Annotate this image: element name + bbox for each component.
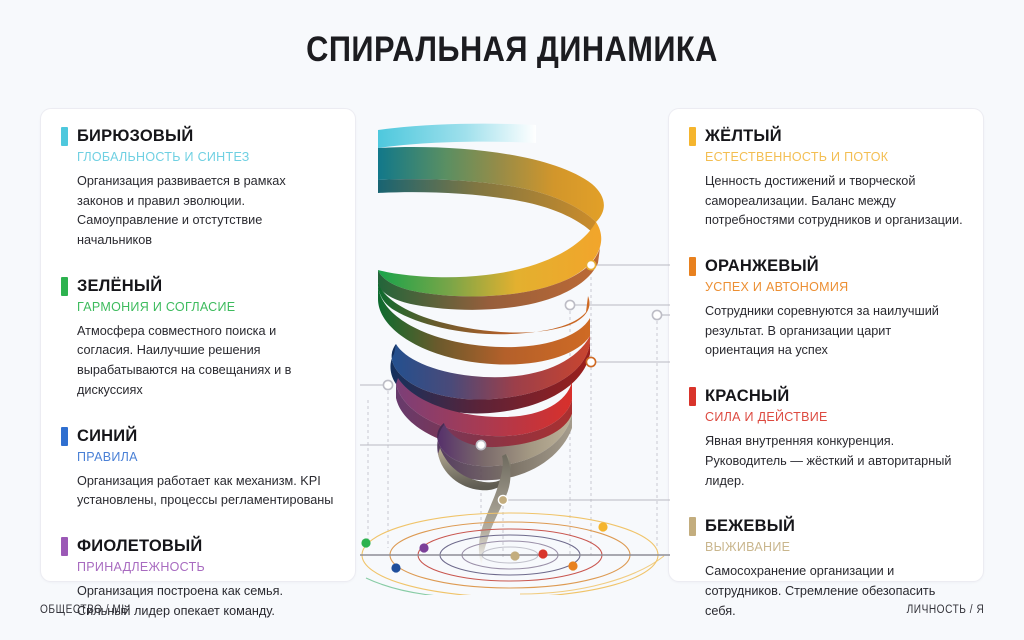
level-subtitle: ГАРМОНИЯ И СОГЛАСИЕ xyxy=(77,300,335,315)
level-header: ФИОЛЕТОВЫЙ xyxy=(61,537,335,556)
level-description: Организация развивается в рамках законов… xyxy=(77,172,335,251)
level-name: ЖЁЛТЫЙ xyxy=(705,128,782,145)
level-header: ОРАНЖЕВЫЙ xyxy=(689,257,963,276)
spiral-diagram xyxy=(360,100,670,595)
level-description: Сотрудники соревнуются за наилучший резу… xyxy=(705,302,963,361)
node-red xyxy=(565,300,574,309)
level-name: СИНИЙ xyxy=(77,428,137,445)
level-item-orange: ОРАНЖЕВЫЙ УСПЕХ И АВТОНОМИЯ Сотрудники с… xyxy=(689,257,963,361)
level-header: КРАСНЫЙ xyxy=(689,387,963,406)
level-description: Организация работает как механизм. KPI у… xyxy=(77,472,335,511)
color-swatch-icon xyxy=(61,537,68,556)
level-item-blue: СИНИЙ ПРАВИЛА Организация работает как м… xyxy=(61,427,335,511)
color-swatch-icon xyxy=(689,387,696,406)
level-description: Атмосфера совместного поиска и согласия.… xyxy=(77,322,335,401)
node-yellow xyxy=(586,260,595,269)
level-header: ЗЕЛЁНЫЙ xyxy=(61,277,335,296)
page-title: СПИРАЛЬНАЯ ДИНАМИКА xyxy=(61,30,962,70)
orbit-dot-blue xyxy=(391,563,400,572)
infographic-page: СПИРАЛЬНАЯ ДИНАМИКА БИРЮЗОВЫЙ ГЛОБАЛЬНОС… xyxy=(0,0,1024,640)
level-header: ЖЁЛТЫЙ xyxy=(689,127,963,146)
level-item-green: ЗЕЛЁНЫЙ ГАРМОНИЯ И СОГЛАСИЕ Атмосфера со… xyxy=(61,277,335,401)
node-blue xyxy=(476,440,485,449)
level-item-yellow: ЖЁЛТЫЙ ЕСТЕСТВЕННОСТЬ И ПОТОК Ценность д… xyxy=(689,127,963,231)
level-header: БЕЖЕВЫЙ xyxy=(689,517,963,536)
level-header: СИНИЙ xyxy=(61,427,335,446)
color-swatch-icon xyxy=(61,427,68,446)
level-description: Явная внутренняя конкуренция. Руководите… xyxy=(705,432,963,491)
level-subtitle: ПРИНАДЛЕЖНОСТЬ xyxy=(77,560,335,575)
level-name: БЕЖЕВЫЙ xyxy=(705,518,795,535)
level-header: БИРЮЗОВЫЙ xyxy=(61,127,335,146)
left-levels-card: БИРЮЗОВЫЙ ГЛОБАЛЬНОСТЬ И СИНТЕЗ Организа… xyxy=(40,108,356,582)
level-name: ОРАНЖЕВЫЙ xyxy=(705,258,819,275)
color-swatch-icon xyxy=(689,257,696,276)
color-swatch-icon xyxy=(61,127,68,146)
orbit-dot-green xyxy=(361,538,370,547)
level-name: КРАСНЫЙ xyxy=(705,388,789,405)
level-name: ФИОЛЕТОВЫЙ xyxy=(77,538,202,555)
level-name: БИРЮЗОВЫЙ xyxy=(77,128,193,145)
orbit-dot-orange xyxy=(568,561,577,570)
level-description: Ценность достижений и творческой самореа… xyxy=(705,172,963,231)
footer-left-label: ОБЩЕСТВО / МЫ xyxy=(40,604,131,616)
color-swatch-icon xyxy=(689,127,696,146)
node-green xyxy=(383,380,392,389)
level-subtitle: ГЛОБАЛЬНОСТЬ И СИНТЕЗ xyxy=(77,150,335,165)
helix-tail-top xyxy=(378,124,536,148)
base-orbits xyxy=(362,513,658,595)
orbit-yellow xyxy=(362,513,658,595)
level-subtitle: ПРАВИЛА xyxy=(77,450,335,465)
orbit-dot-yellow xyxy=(598,522,607,531)
orbit-dot-red xyxy=(538,549,547,558)
arc-yellow xyxy=(520,556,664,594)
node-beige xyxy=(498,495,507,504)
footer-right-label: ЛИЧНОСТЬ / Я xyxy=(906,604,984,616)
level-name: ЗЕЛЁНЫЙ xyxy=(77,278,162,295)
level-subtitle: УСПЕХ И АВТОНОМИЯ xyxy=(705,280,963,295)
level-subtitle: ВЫЖИВАНИЕ xyxy=(705,540,963,555)
orbit-dot-beige xyxy=(510,551,519,560)
node-purple xyxy=(652,310,661,319)
right-levels-card: ЖЁЛТЫЙ ЕСТЕСТВЕННОСТЬ И ПОТОК Ценность д… xyxy=(668,108,984,582)
level-subtitle: СИЛА И ДЕЙСТВИЕ xyxy=(705,410,963,425)
color-swatch-icon xyxy=(61,277,68,296)
level-subtitle: ЕСТЕСТВЕННОСТЬ И ПОТОК xyxy=(705,150,963,165)
level-item-turquoise: БИРЮЗОВЫЙ ГЛОБАЛЬНОСТЬ И СИНТЕЗ Организа… xyxy=(61,127,335,251)
orbit-dot-purple xyxy=(419,543,428,552)
node-orange xyxy=(586,357,595,366)
color-swatch-icon xyxy=(689,517,696,536)
level-item-red: КРАСНЫЙ СИЛА И ДЕЙСТВИЕ Явная внутренняя… xyxy=(689,387,963,491)
